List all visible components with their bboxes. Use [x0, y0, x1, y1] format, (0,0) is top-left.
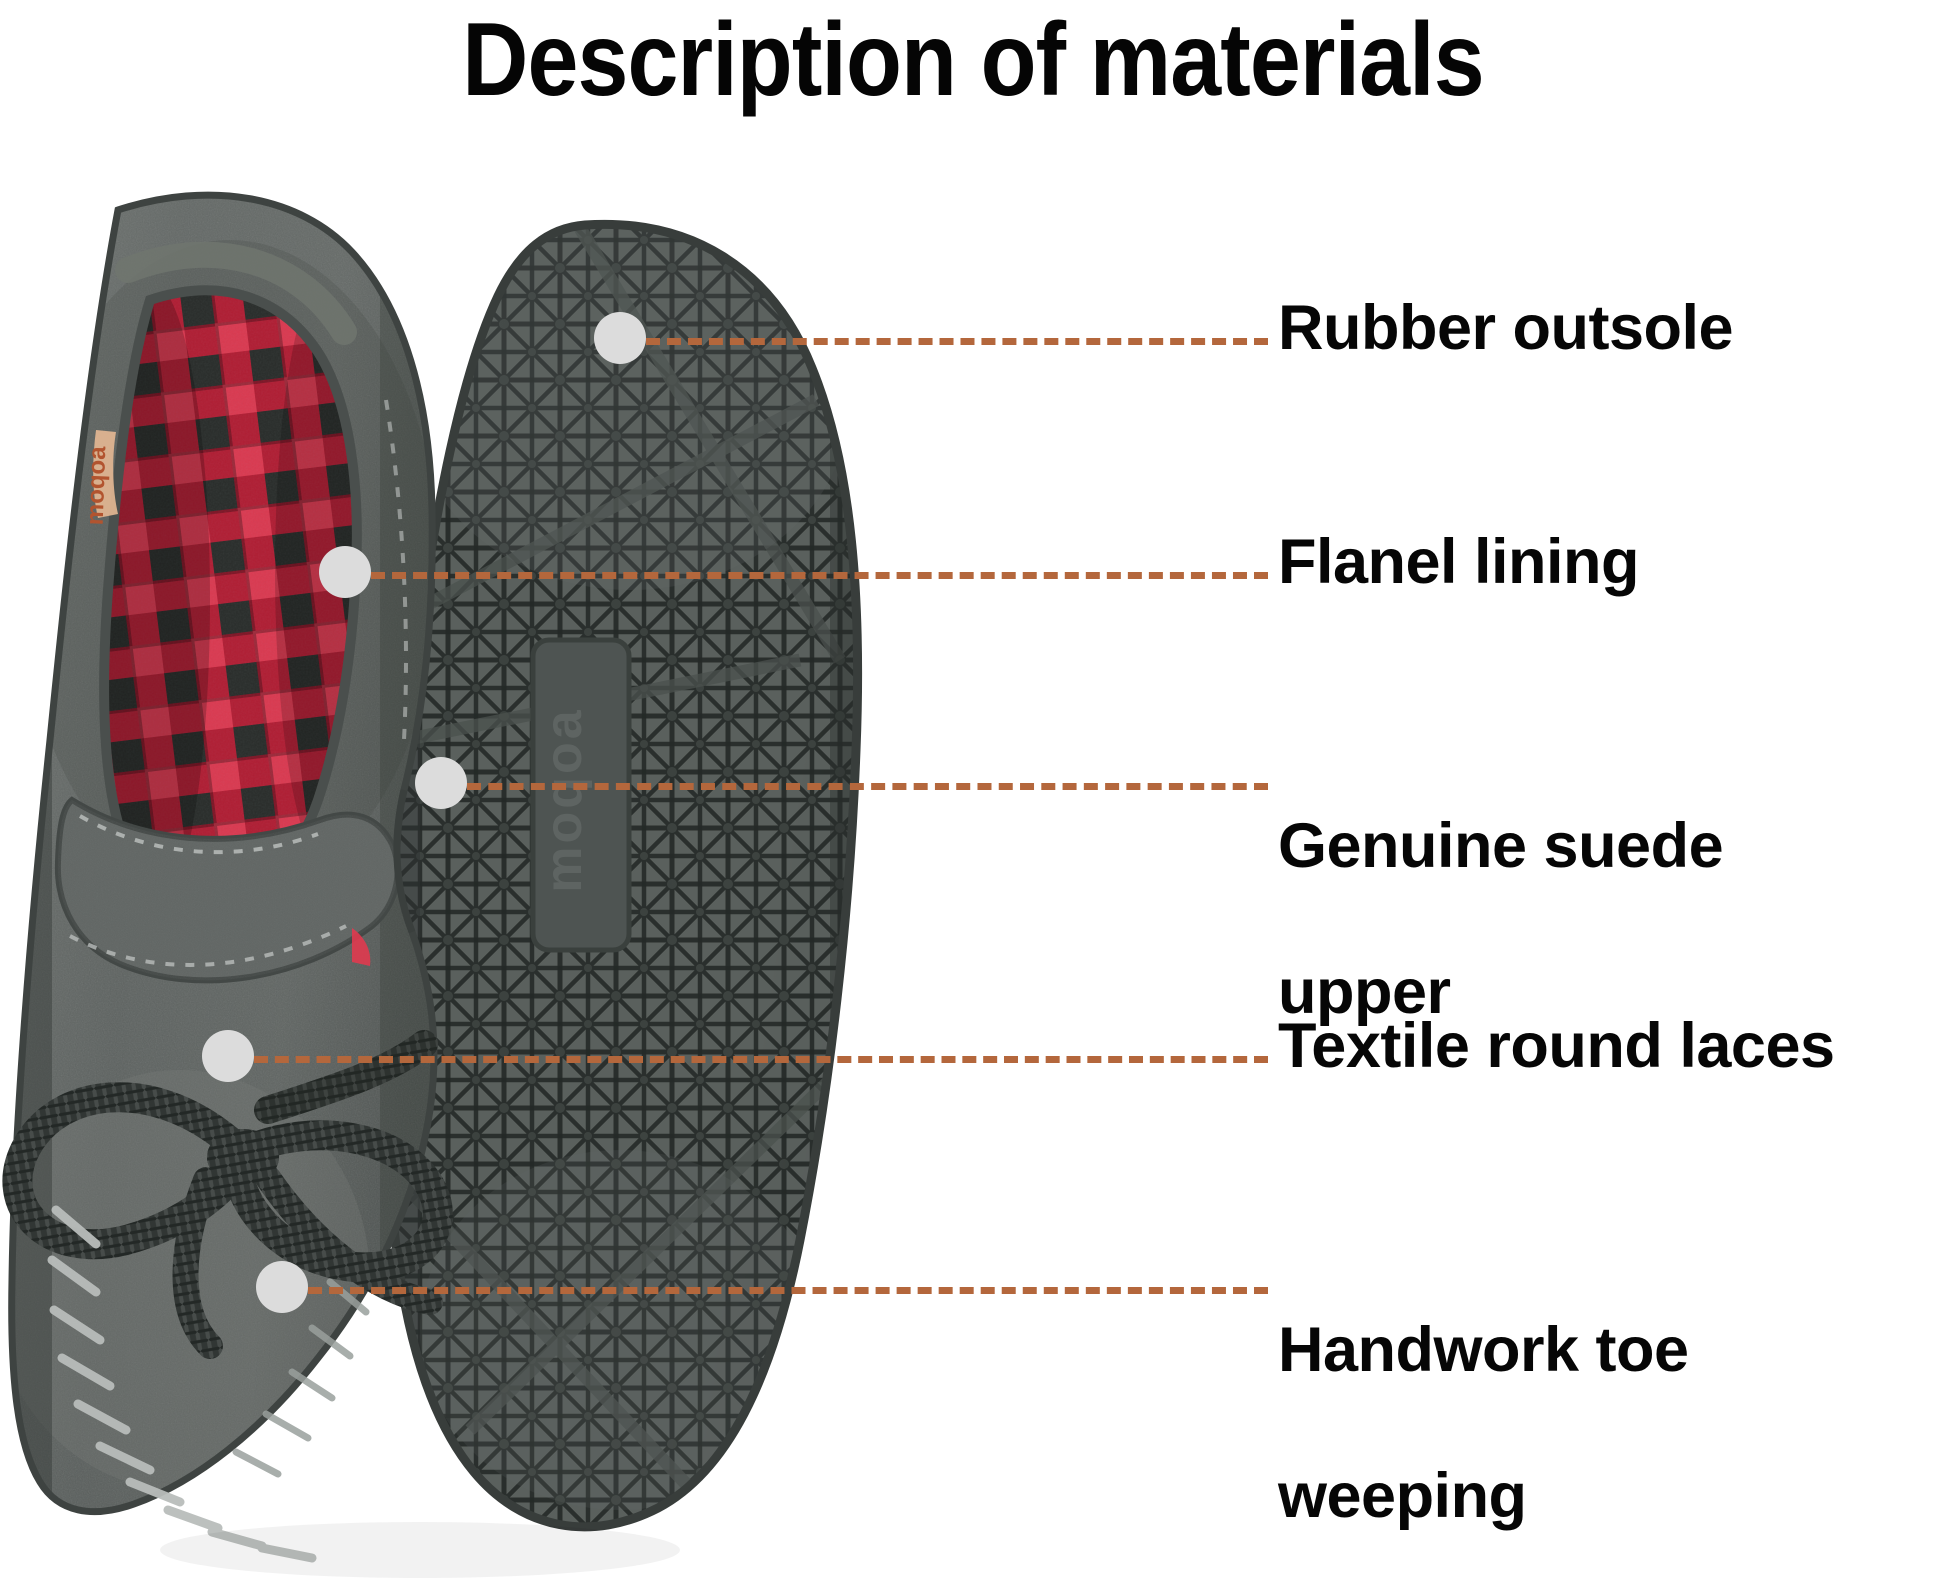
leader-line-genuine-suede-upper — [467, 783, 1268, 790]
sole-brand-text: moqoa — [535, 707, 593, 892]
callout-label-textile-round-laces: Textile round laces — [1278, 1010, 1835, 1083]
materials-description-page: Description of materials — [0, 0, 1946, 1589]
callout-label-handwork-toe-weeping: Handwork toe weeping — [1278, 1241, 1689, 1533]
leader-line-handwork-toe-weeping — [308, 1287, 1268, 1294]
callout-label-genuine-suede-upper: Genuine suede upper — [1278, 737, 1723, 1029]
callout-label-handwork-toe-weeping-line2: weeping — [1278, 1461, 1527, 1531]
product-photo: moqoa — [0, 100, 1010, 1589]
leader-line-rubber-outsole — [646, 338, 1268, 345]
suede-upper-graphic: moqoa — [0, 180, 460, 1580]
callout-dot-rubber-outsole[interactable] — [594, 312, 646, 364]
callout-label-handwork-toe-weeping-line1: Handwork toe — [1278, 1315, 1689, 1385]
sole-brand-plate: moqoa — [533, 640, 629, 950]
callout-dot-flanel-lining[interactable] — [319, 546, 371, 598]
callout-dot-genuine-suede-upper[interactable] — [415, 757, 467, 809]
callout-dot-textile-round-laces[interactable] — [202, 1030, 254, 1082]
tongue-brand-text: moqoa — [82, 445, 112, 525]
leader-line-textile-round-laces — [254, 1056, 1268, 1063]
callout-label-rubber-outsole: Rubber outsole — [1278, 292, 1733, 365]
callout-label-genuine-suede-upper-line1: Genuine suede — [1278, 811, 1723, 881]
rubber-outsole-graphic: moqoa — [380, 200, 880, 1560]
callout-dot-handwork-toe-weeping[interactable] — [256, 1261, 308, 1313]
leader-line-flanel-lining — [371, 572, 1268, 579]
callout-label-flanel-lining: Flanel lining — [1278, 526, 1639, 599]
